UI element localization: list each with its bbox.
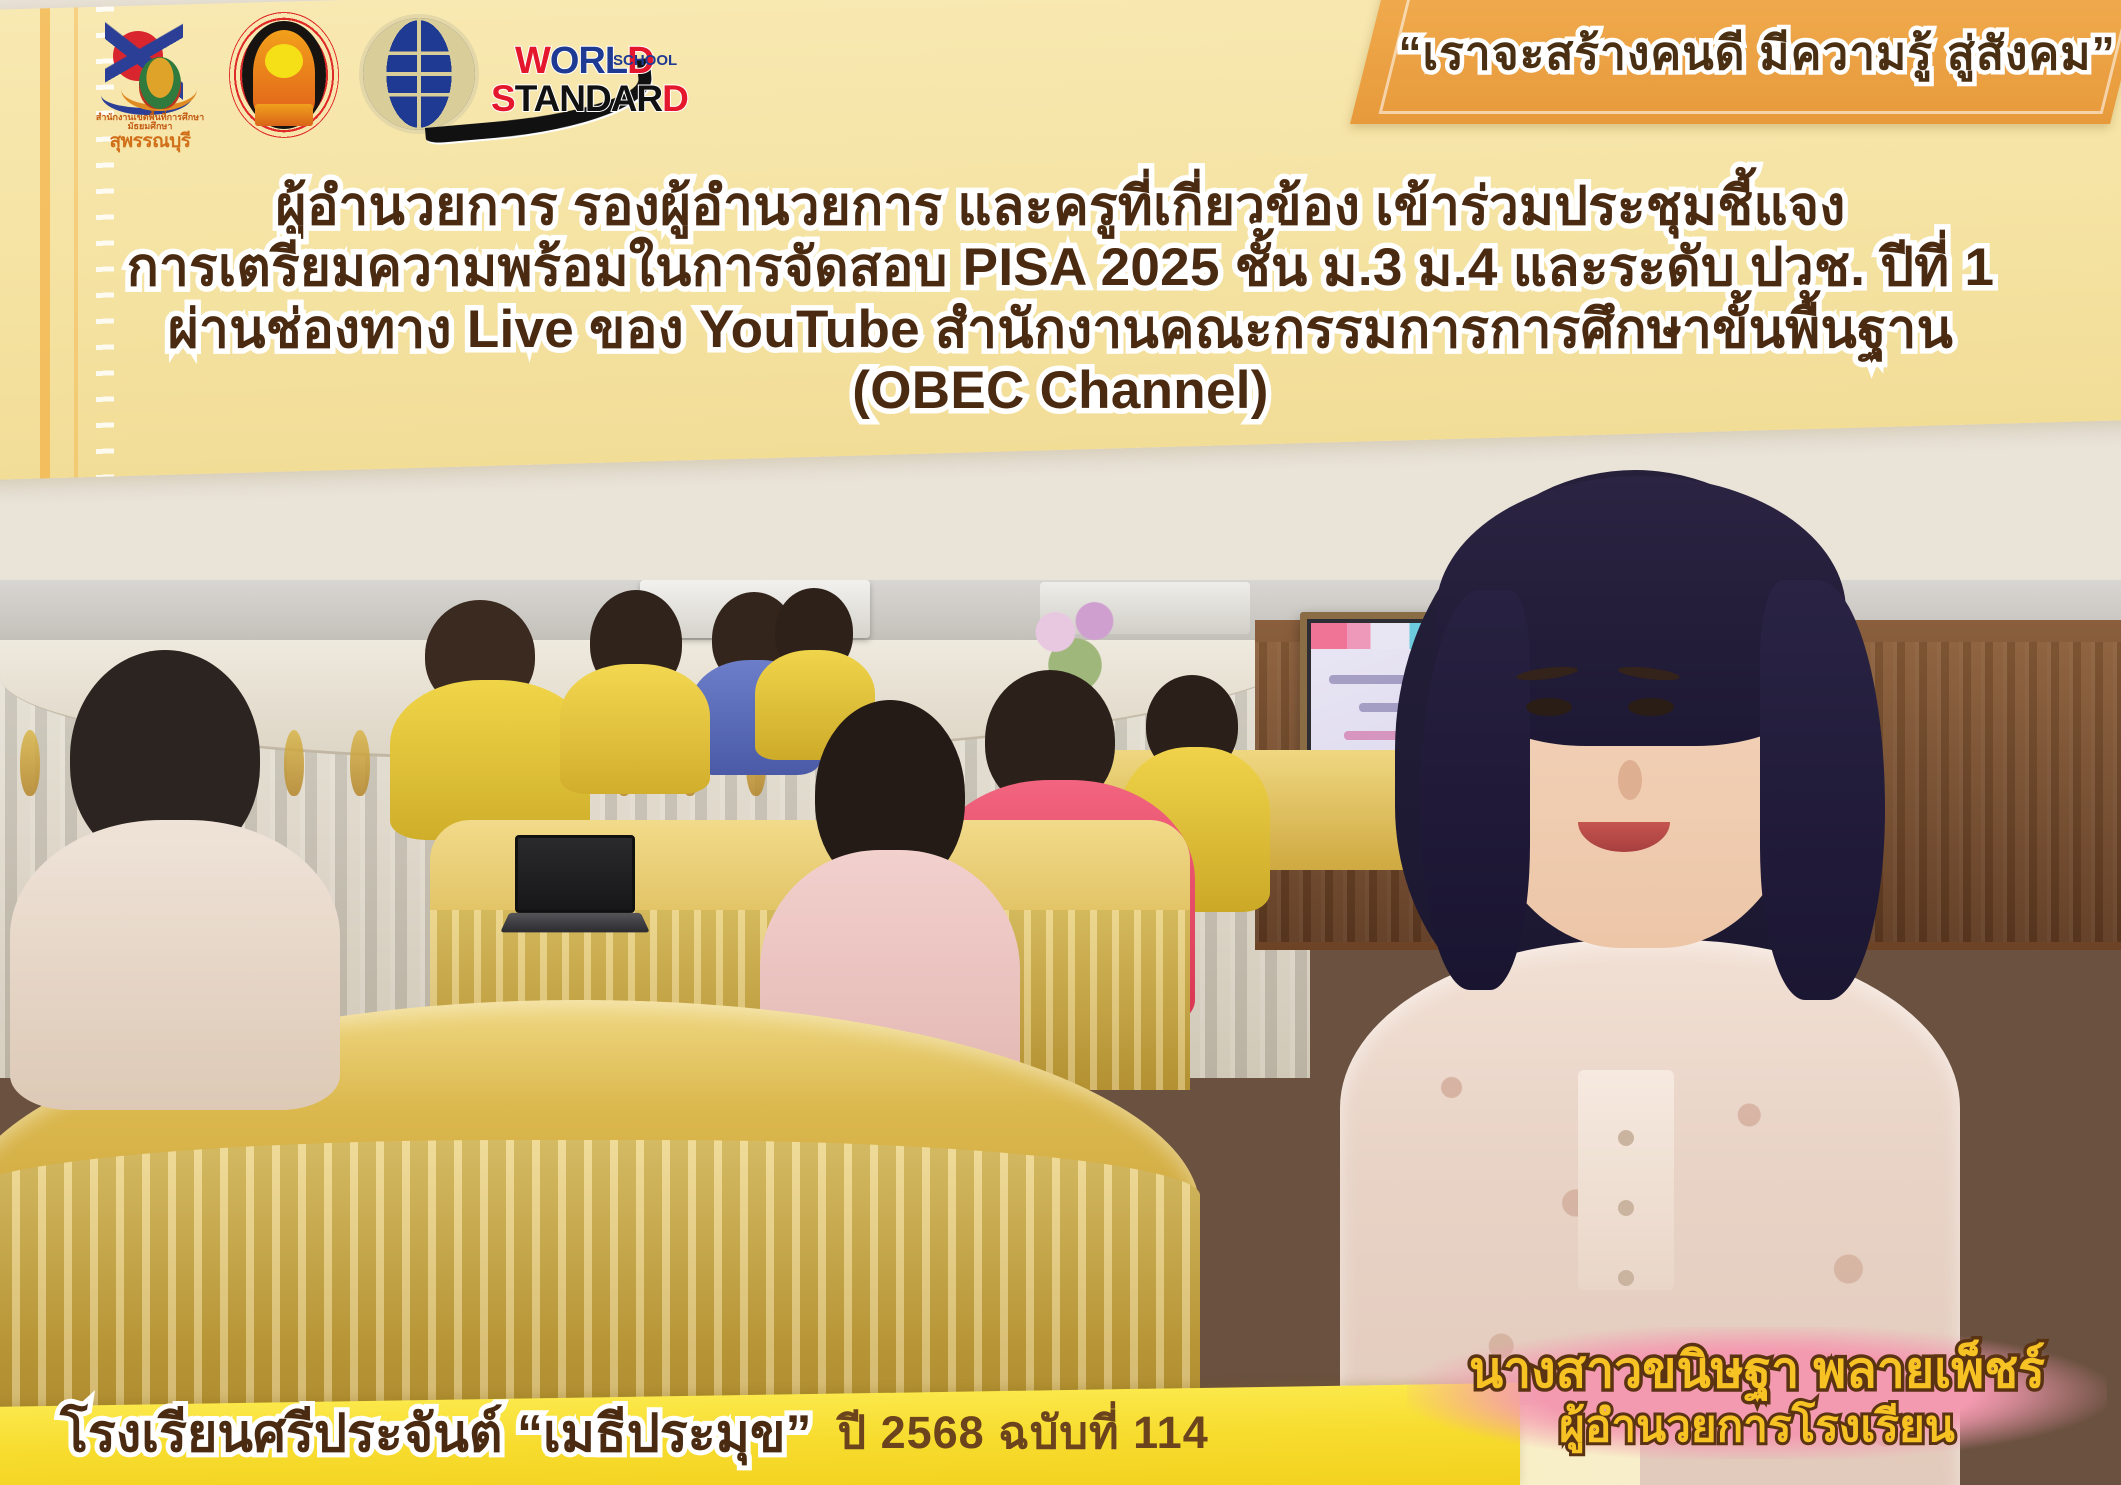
- director-nameplate: นางสาวขนิษฐา พลายเพ็ชร์ ผู้อำนวยการโรงเร…: [1407, 1327, 2107, 1459]
- headline-line-3: ผ่านช่องทาง Live ของ YouTube สำนักงานคณะ…: [0, 299, 2121, 360]
- poster-root: สำนักงานเขตพื้นที่การศึกษามัธยมศึกษา สุพ…: [0, 0, 2121, 1485]
- portrait-collar: [1578, 1070, 1674, 1290]
- wcss-word-bottom: STANDARD: [491, 80, 688, 117]
- portrait-button-1: [1618, 1130, 1634, 1146]
- headline-line-4: (OBEC Channel): [0, 360, 2121, 421]
- portrait-nose: [1618, 760, 1642, 800]
- portrait-button-2: [1618, 1200, 1634, 1216]
- portrait-eye-left: [1526, 698, 1572, 716]
- school-motto-ribbon: “เราจะสร้างคนดี มีความรู้ สู่สังคม”: [1350, 0, 2121, 124]
- bottom-banner-content: โรงเรียนศรีประจันต์ “เมธีประมุข” ปี 2568…: [60, 1393, 1560, 1471]
- headline-line-2: การเตรียมความพร้อมในการจัดสอบ PISA 2025 …: [0, 237, 2121, 298]
- logo-caption: สำนักงานเขตพื้นที่การศึกษามัธยมศึกษา สุพ…: [95, 113, 205, 152]
- world-class-standard-school-logo: WORLD STANDARD SCHOOL: [363, 16, 693, 134]
- obec-emblem-logo: [229, 12, 339, 138]
- logo-royal-seal-icon: [139, 57, 181, 109]
- issue-number: ปี 2568 ฉบับที่ 114: [838, 1396, 1209, 1468]
- photo-person-yellow-2: [560, 590, 710, 780]
- portrait-button-3: [1618, 1270, 1634, 1286]
- portrait-eye-right: [1628, 698, 1674, 716]
- logo-row: สำนักงานเขตพื้นที่การศึกษามัธยมศึกษา สุพ…: [95, 10, 693, 140]
- page-title: ผู้อำนวยการ รองผู้อำนวยการ และครูที่เกี่…: [0, 176, 2121, 422]
- photo-laptop: [505, 835, 645, 945]
- logo-caption-large: สุพรรณบุรี: [95, 132, 205, 152]
- top-banner-content: สำนักงานเขตพื้นที่การศึกษามัธยมศึกษา สุพ…: [0, 0, 2121, 460]
- headline-line-1: ผู้อำนวยการ รองผู้อำนวยการ และครูที่เกี่…: [0, 176, 2121, 237]
- photo-person-foreground-left: [10, 650, 340, 1070]
- school-motto-text: “เราจะสร้างคนดี มีความรู้ สู่สังคม”: [1367, 0, 2121, 124]
- director-position: ผู้อำนวยการโรงเรียน: [1407, 1391, 2107, 1461]
- obec-pedestal-icon: [255, 104, 313, 126]
- portrait-hair-right: [1760, 580, 1885, 1000]
- logo-caption-small: สำนักงานเขตพื้นที่การศึกษามัธยมศึกษา: [96, 112, 204, 131]
- suphanburi-secondary-education-logo: สำนักงานเขตพื้นที่การศึกษามัธยมศึกษา สุพ…: [95, 9, 205, 141]
- school-name: โรงเรียนศรีประจันต์ “เมธีประมุข”: [60, 1391, 812, 1474]
- wcss-word-right: SCHOOL: [613, 52, 677, 69]
- obec-monogram-icon: [265, 44, 303, 78]
